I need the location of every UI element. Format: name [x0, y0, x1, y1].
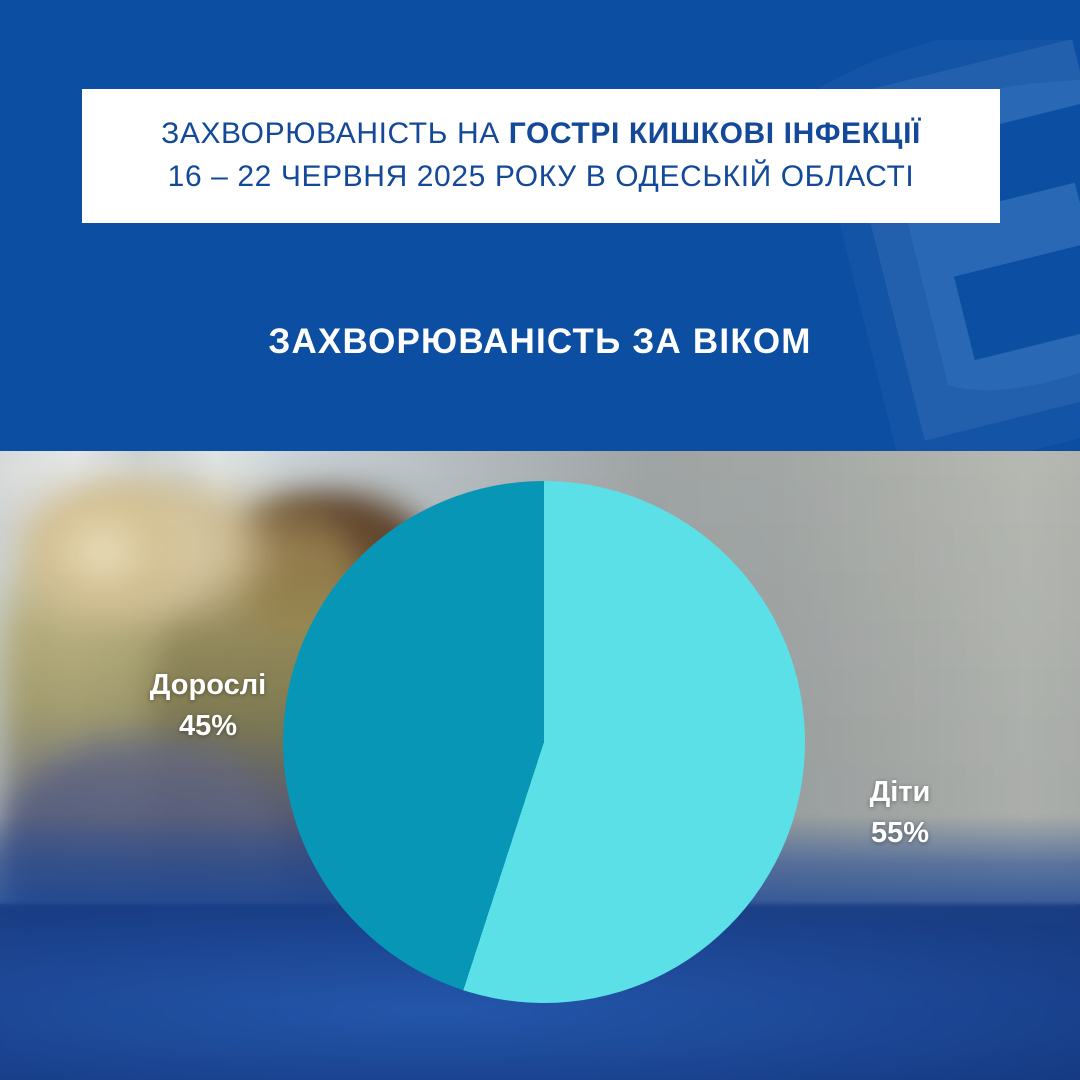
title-line-2: 16 – 22 ЧЕРВНЯ 2025 РОКУ В ОДЕСЬКІЙ ОБЛА… [168, 156, 915, 199]
title-line-1: ЗАХВОРЮВАНІСТЬ НА ГОСТРІ КИШКОВІ ІНФЕКЦІ… [161, 113, 921, 156]
header-band: ЗАХВОРЮВАНІСТЬ НА ГОСТРІ КИШКОВІ ІНФЕКЦІ… [0, 0, 1080, 451]
pie-label-children-name: Діти [870, 776, 931, 808]
pie-label-children-value: 55% [800, 813, 1000, 854]
pie-label-adults-name: Дорослі [150, 669, 266, 701]
pie-label-adults: Дорослі 45% [108, 665, 308, 747]
infographic-canvas: ЗАХВОРЮВАНІСТЬ НА ГОСТРІ КИШКОВІ ІНФЕКЦІ… [0, 0, 1080, 1080]
title-card: ЗАХВОРЮВАНІСТЬ НА ГОСТРІ КИШКОВІ ІНФЕКЦІ… [82, 89, 1000, 223]
pie-label-children: Діти 55% [800, 772, 1000, 854]
age-distribution-pie-chart [283, 481, 805, 1003]
title-regular-part: ЗАХВОРЮВАНІСТЬ НА [161, 117, 509, 150]
section-heading: ЗАХВОРЮВАНІСТЬ ЗА ВІКОМ [0, 322, 1080, 362]
pie-label-adults-value: 45% [108, 706, 308, 747]
title-bold-part: ГОСТРІ КИШКОВІ ІНФЕКЦІЇ [509, 117, 921, 150]
